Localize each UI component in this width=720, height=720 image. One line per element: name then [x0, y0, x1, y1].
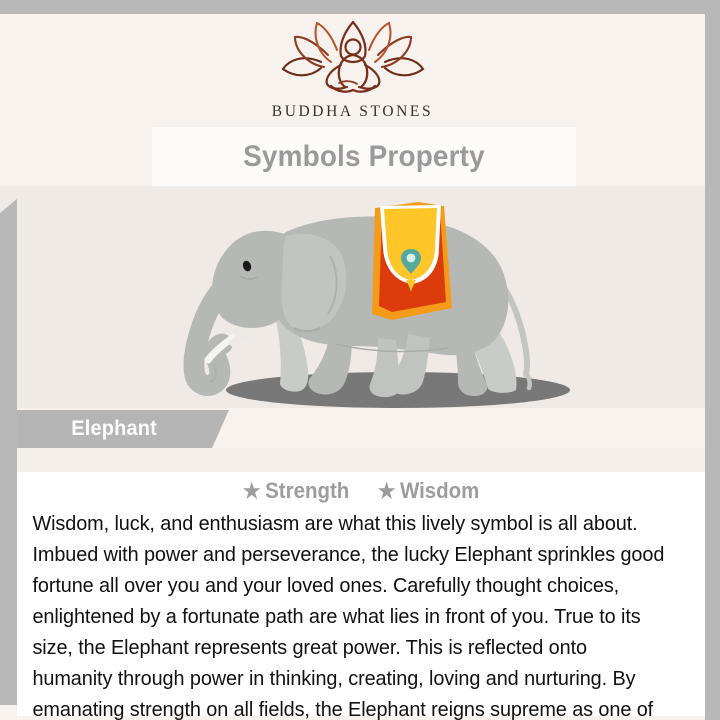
page-title-banner: Symbols Property: [152, 127, 576, 186]
symbol-attribute-label: Strength: [265, 478, 349, 504]
elephant-blanket: [372, 202, 452, 320]
walking-elephant-illustration-icon: [0, 186, 705, 408]
symbol-attribute-label: Wisdom: [400, 478, 479, 504]
divider-band: [17, 448, 705, 472]
symbol-name: Elephant: [71, 417, 157, 441]
symbols-property-infographic: BUDDHA STONES Symbols Property: [0, 0, 720, 720]
star-icon: ★: [243, 481, 261, 502]
content-card: BUDDHA STONES Symbols Property: [0, 14, 705, 720]
left-accent-strip: [0, 199, 17, 705]
symbol-attributes: ★ Strength ★ Wisdom: [17, 472, 705, 504]
symbol-name-banner: Elephant: [17, 410, 229, 448]
lotus-meditation-figure-logo-icon: [273, 20, 433, 102]
symbol-attribute-strength: ★ Strength: [243, 478, 349, 504]
brand-name: BUDDHA STONES: [272, 103, 433, 121]
brand-logo-block: BUDDHA STONES: [0, 20, 705, 138]
symbol-attribute-wisdom: ★ Wisdom: [377, 478, 479, 504]
symbol-description-panel: ★ Strength ★ Wisdom Wisdom, luck, and en…: [17, 472, 705, 716]
illustration-stage: [0, 186, 705, 408]
symbol-description-text: Wisdom, luck, and enthusiasm are what th…: [17, 508, 681, 720]
star-icon: ★: [377, 481, 395, 502]
page-title: Symbols Property: [243, 140, 485, 174]
elephant-trunk: [194, 284, 228, 385]
